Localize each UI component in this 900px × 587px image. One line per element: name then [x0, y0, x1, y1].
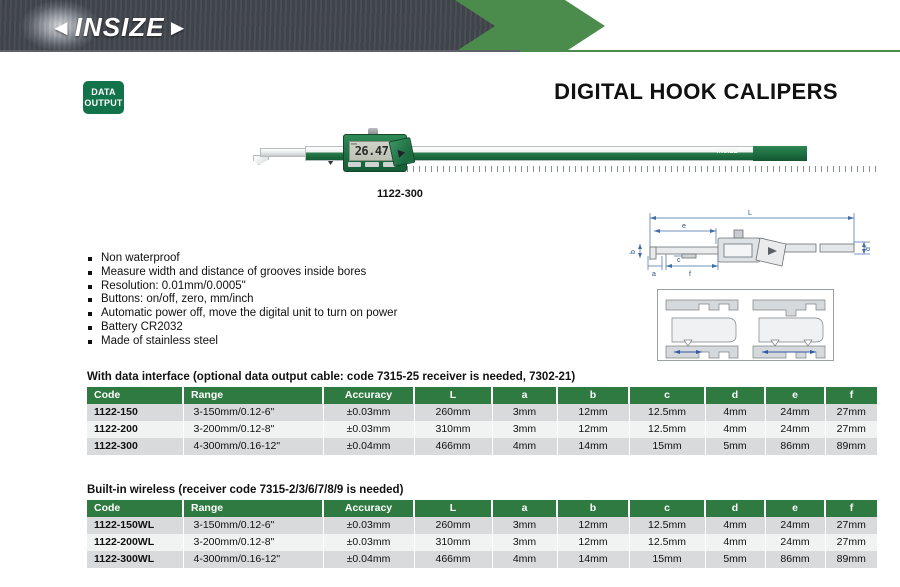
cell-c: 12.5mm	[629, 421, 705, 438]
table-row: 1122-200WL 3-200mm/0.12-8" ±0.03mm 310mm…	[87, 534, 877, 551]
cell-code: 1122-200	[87, 421, 183, 438]
col-header-range: Range	[183, 500, 323, 517]
cell-e: 24mm	[765, 421, 825, 438]
dim-label-d: d	[865, 247, 872, 251]
col-header-c: c	[629, 387, 705, 404]
col-header-L: L	[414, 387, 492, 404]
page-header-banner: ◄ INSIZE ►	[0, 0, 900, 52]
col-header-range: Range	[183, 387, 323, 404]
cell-f: 89mm	[825, 438, 877, 455]
table-row: 1122-300WL 4-300mm/0.16-12" ±0.04mm 466m…	[87, 551, 877, 568]
cell-L: 310mm	[414, 421, 492, 438]
dimension-diagram: L e b a c f d	[622, 204, 880, 282]
col-header-e: e	[765, 500, 825, 517]
cell-c: 12.5mm	[629, 517, 705, 534]
cell-range: 3-150mm/0.12-6"	[183, 517, 323, 534]
cell-e: 24mm	[765, 404, 825, 421]
banner-divider-right	[520, 50, 900, 52]
table-row: 1122-200 3-200mm/0.12-8" ±0.03mm 310mm 3…	[87, 421, 877, 438]
col-header-accuracy: Accuracy	[323, 500, 414, 517]
caliper-beam-end	[753, 146, 807, 161]
cell-b: 14mm	[557, 551, 629, 568]
cell-code: 1122-300WL	[87, 551, 183, 568]
cell-a: 3mm	[492, 421, 557, 438]
cell-b: 12mm	[557, 534, 629, 551]
cell-L: 466mm	[414, 438, 492, 455]
table-row: 1122-150 3-150mm/0.12-6" ±0.03mm 260mm 3…	[87, 404, 877, 421]
cell-e: 24mm	[765, 517, 825, 534]
cell-range: 3-150mm/0.12-6"	[183, 404, 323, 421]
thumb-grip-shape	[389, 137, 416, 167]
cell-a: 4mm	[492, 551, 557, 568]
beam-brand-logo: INSIZE	[717, 149, 738, 155]
cell-code: 1122-200WL	[87, 534, 183, 551]
spec-table-data-interface: Code Range Accuracy L a b c d e f 1122-1…	[87, 387, 877, 455]
spec-table-builtin-wireless: Code Range Accuracy L a b c d e f 1122-1…	[87, 500, 877, 568]
col-header-a: a	[492, 500, 557, 517]
cell-f: 27mm	[825, 517, 877, 534]
cell-L: 260mm	[414, 404, 492, 421]
cell-range: 3-200mm/0.12-8"	[183, 421, 323, 438]
dim-label-a: a	[652, 271, 656, 278]
col-header-e: e	[765, 387, 825, 404]
cell-c: 15mm	[629, 438, 705, 455]
features-list: Non waterproof Measure width and distanc…	[88, 252, 518, 349]
cell-f: 89mm	[825, 551, 877, 568]
product-photo: 10 20 30 40 50 60 70 80 90 100 110 120 I…	[205, 128, 805, 178]
button-row	[348, 162, 396, 167]
cell-accuracy: ±0.04mm	[323, 438, 414, 455]
cell-a: 4mm	[492, 438, 557, 455]
cell-code: 1122-300	[87, 438, 183, 455]
cell-range: 4-300mm/0.16-12"	[183, 438, 323, 455]
page-title: DIGITAL HOOK CALIPERS	[554, 79, 838, 105]
cell-b: 12mm	[557, 404, 629, 421]
feature-item: Made of stainless steel	[88, 335, 518, 348]
cell-d: 5mm	[705, 551, 765, 568]
cell-range: 3-200mm/0.12-8"	[183, 534, 323, 551]
cell-c: 12.5mm	[629, 534, 705, 551]
dim-label-L: L	[748, 210, 752, 217]
col-header-code: Code	[87, 387, 183, 404]
cell-accuracy: ±0.03mm	[323, 517, 414, 534]
beam-scale-numbers: 10 20 30 40 50 60 70 80 90 100 110 120	[466, 172, 866, 179]
badge-line-2: OUTPUT	[84, 98, 122, 109]
table-row: 1122-150WL 3-150mm/0.12-6" ±0.03mm 260mm…	[87, 517, 877, 534]
cell-a: 3mm	[492, 534, 557, 551]
cell-a: 3mm	[492, 517, 557, 534]
table-row: 1122-300 4-300mm/0.16-12" ±0.04mm 466mm …	[87, 438, 877, 455]
dim-label-b: b	[630, 250, 637, 254]
table-caption: With data interface (optional data outpu…	[87, 371, 845, 383]
feature-item: Automatic power off, move the digital un…	[88, 307, 518, 320]
logo-arrow-left-icon: ◄	[50, 17, 73, 39]
dim-label-c: c	[677, 257, 681, 264]
col-header-d: d	[705, 500, 765, 517]
cell-c: 12.5mm	[629, 404, 705, 421]
cell-a: 3mm	[492, 404, 557, 421]
button-zero	[365, 162, 378, 167]
cell-f: 27mm	[825, 404, 877, 421]
cell-f: 27mm	[825, 534, 877, 551]
table-caption: Built-in wireless (receiver code 7315-2/…	[87, 484, 845, 496]
feature-item: Resolution: 0.01mm/0.0005"	[88, 280, 518, 293]
cell-range: 4-300mm/0.16-12"	[183, 551, 323, 568]
cell-code: 1122-150	[87, 404, 183, 421]
cell-L: 310mm	[414, 534, 492, 551]
lcd-unit-label: mm	[351, 142, 357, 146]
cell-f: 27mm	[825, 421, 877, 438]
cell-c: 15mm	[629, 551, 705, 568]
cell-L: 466mm	[414, 551, 492, 568]
logo-arrow-right-icon: ►	[167, 17, 190, 39]
col-header-d: d	[705, 387, 765, 404]
col-header-code: Code	[87, 500, 183, 517]
cell-b: 12mm	[557, 517, 629, 534]
col-header-b: b	[557, 387, 629, 404]
table-header-row: Code Range Accuracy L a b c d e f	[87, 500, 877, 517]
cell-accuracy: ±0.03mm	[323, 421, 414, 438]
dim-label-f: f	[689, 271, 691, 278]
table-header-row: Code Range Accuracy L a b c d e f	[87, 387, 877, 404]
col-header-f: f	[825, 387, 877, 404]
cell-e: 86mm	[765, 438, 825, 455]
insize-logo: ◄ INSIZE ►	[50, 12, 189, 43]
dim-label-e: e	[682, 223, 686, 230]
col-header-f: f	[825, 500, 877, 517]
cell-L: 260mm	[414, 517, 492, 534]
cell-e: 24mm	[765, 534, 825, 551]
cell-e: 86mm	[765, 551, 825, 568]
feature-item: Buttons: on/off, zero, mm/inch	[88, 293, 518, 306]
product-model-label: 1122-300	[205, 188, 595, 200]
col-header-b: b	[557, 500, 629, 517]
feature-item: Measure width and distance of grooves in…	[88, 266, 518, 279]
col-header-accuracy: Accuracy	[323, 387, 414, 404]
cell-d: 4mm	[705, 517, 765, 534]
cell-d: 4mm	[705, 421, 765, 438]
cell-code: 1122-150WL	[87, 517, 183, 534]
cell-accuracy: ±0.03mm	[323, 534, 414, 551]
application-illustration-box	[657, 289, 834, 361]
col-header-c: c	[629, 500, 705, 517]
cell-accuracy: ±0.04mm	[323, 551, 414, 568]
cell-d: 5mm	[705, 438, 765, 455]
badge-line-1: DATA	[91, 87, 115, 98]
cell-b: 14mm	[557, 438, 629, 455]
cell-d: 4mm	[705, 534, 765, 551]
dimension-diagram-svg: L e b a c f d	[622, 204, 880, 282]
application-illustration-svg	[658, 290, 833, 360]
features-ul: Non waterproof Measure width and distanc…	[88, 252, 518, 348]
feature-item: Battery CR2032	[88, 321, 518, 334]
button-onoff	[348, 162, 361, 167]
table-section-data-interface: With data interface (optional data outpu…	[87, 371, 845, 455]
cell-b: 12mm	[557, 421, 629, 438]
cell-d: 4mm	[705, 404, 765, 421]
banner-divider-left	[0, 50, 540, 52]
logo-text: INSIZE	[75, 12, 165, 43]
data-output-badge: DATA OUTPUT	[83, 81, 124, 114]
col-header-a: a	[492, 387, 557, 404]
feature-item: Non waterproof	[88, 252, 518, 265]
table-section-builtin-wireless: Built-in wireless (receiver code 7315-2/…	[87, 484, 845, 568]
col-header-L: L	[414, 500, 492, 517]
cell-accuracy: ±0.03mm	[323, 404, 414, 421]
